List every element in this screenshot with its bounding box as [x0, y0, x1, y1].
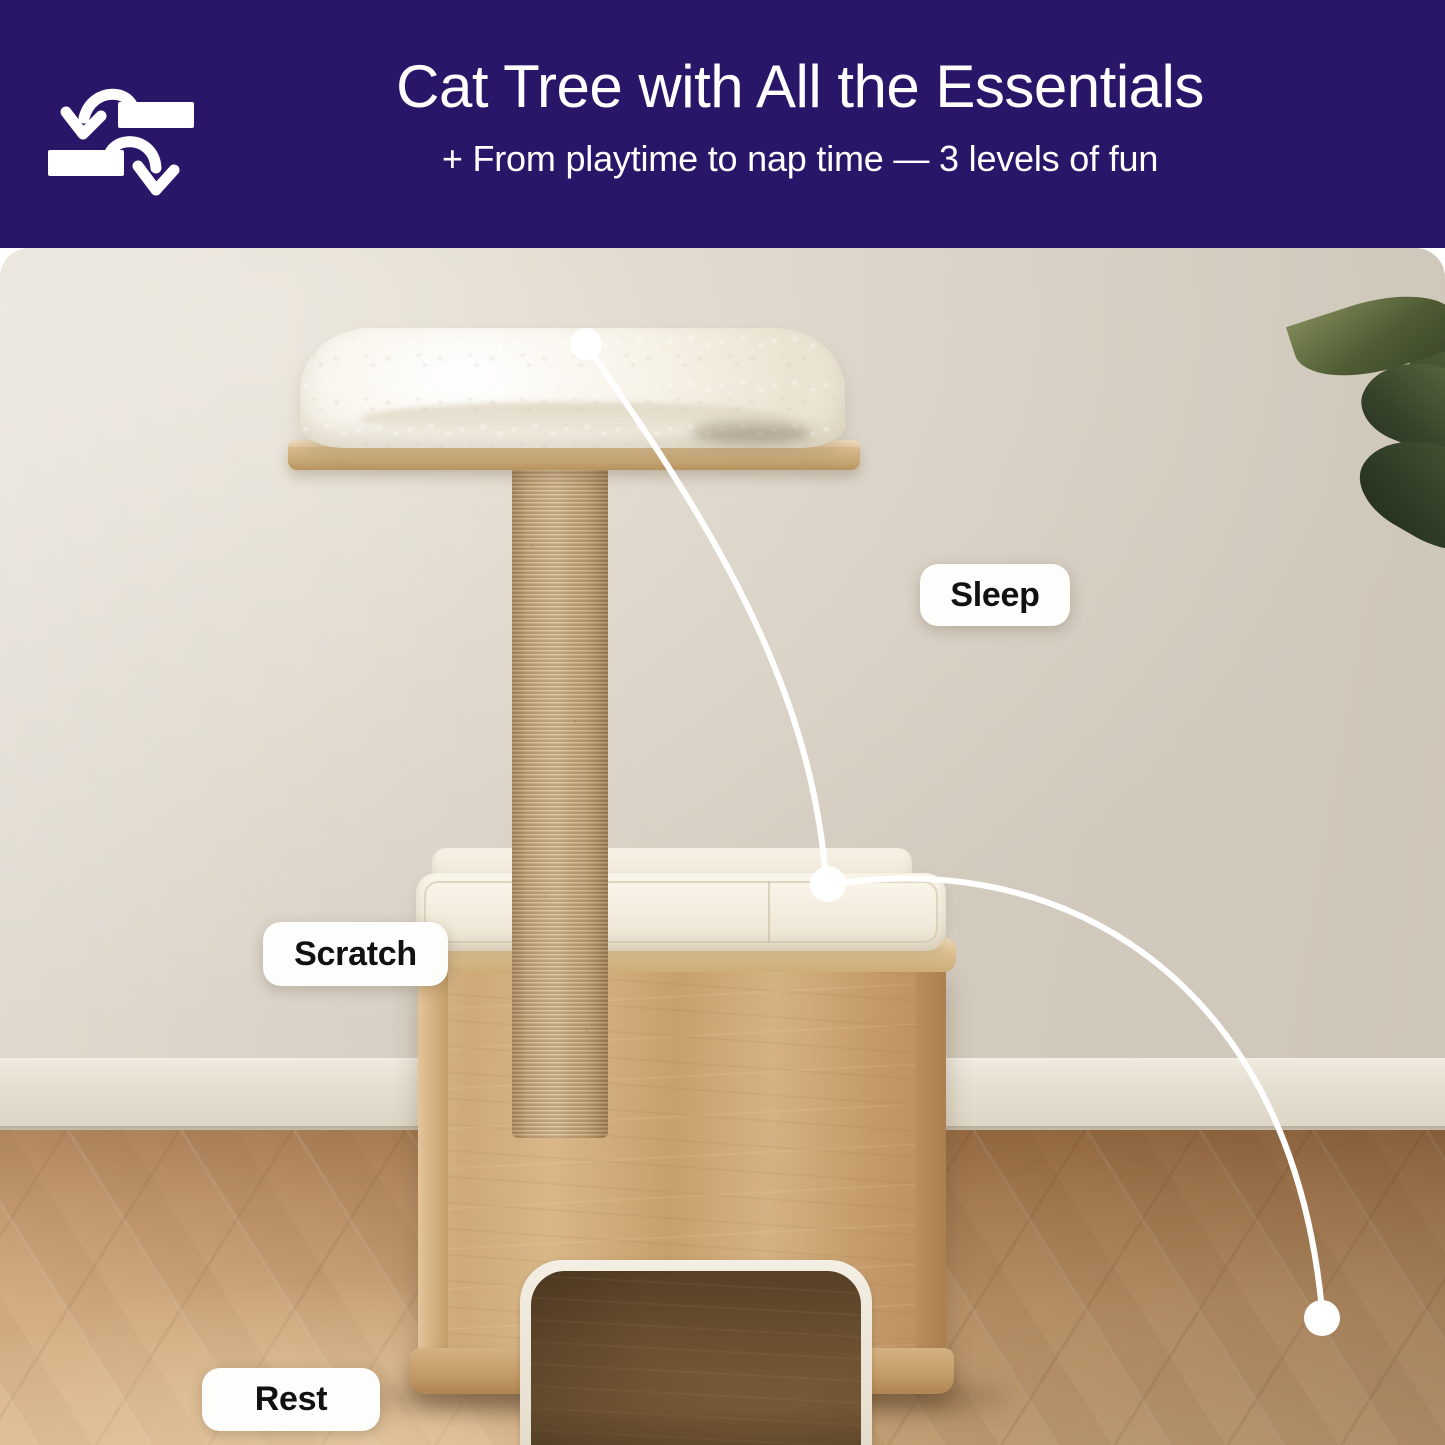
cat-tree: [0, 248, 1445, 1445]
callout-pill-rest[interactable]: Rest: [202, 1368, 380, 1431]
opening-shading: [531, 1271, 861, 1445]
box-left-edge: [418, 964, 448, 1384]
page-title: Cat Tree with All the Essentials: [215, 50, 1385, 124]
page-subtitle: + From playtime to nap time — 3 levels o…: [215, 134, 1385, 184]
mid-cushion: [416, 873, 946, 951]
box-right-edge: [916, 964, 946, 1384]
callout-pill-scratch[interactable]: Scratch: [263, 922, 448, 986]
cushion-seam: [768, 881, 770, 943]
top-plush-bed: [300, 328, 845, 448]
bed-shadow: [691, 422, 811, 444]
cushion-stitch: [424, 881, 938, 943]
callout-pill-sleep[interactable]: Sleep: [920, 564, 1070, 626]
header-banner: Cat Tree with All the Essentials + From …: [0, 0, 1445, 248]
rope-specks: [512, 466, 608, 1138]
product-photo: Sleep Scratch Rest: [0, 248, 1445, 1445]
swap-arrows-icon: [46, 72, 196, 204]
cubby-opening: [531, 1271, 861, 1445]
banner-text-block: Cat Tree with All the Essentials + From …: [215, 50, 1385, 184]
sisal-scratching-post: [512, 466, 608, 1138]
